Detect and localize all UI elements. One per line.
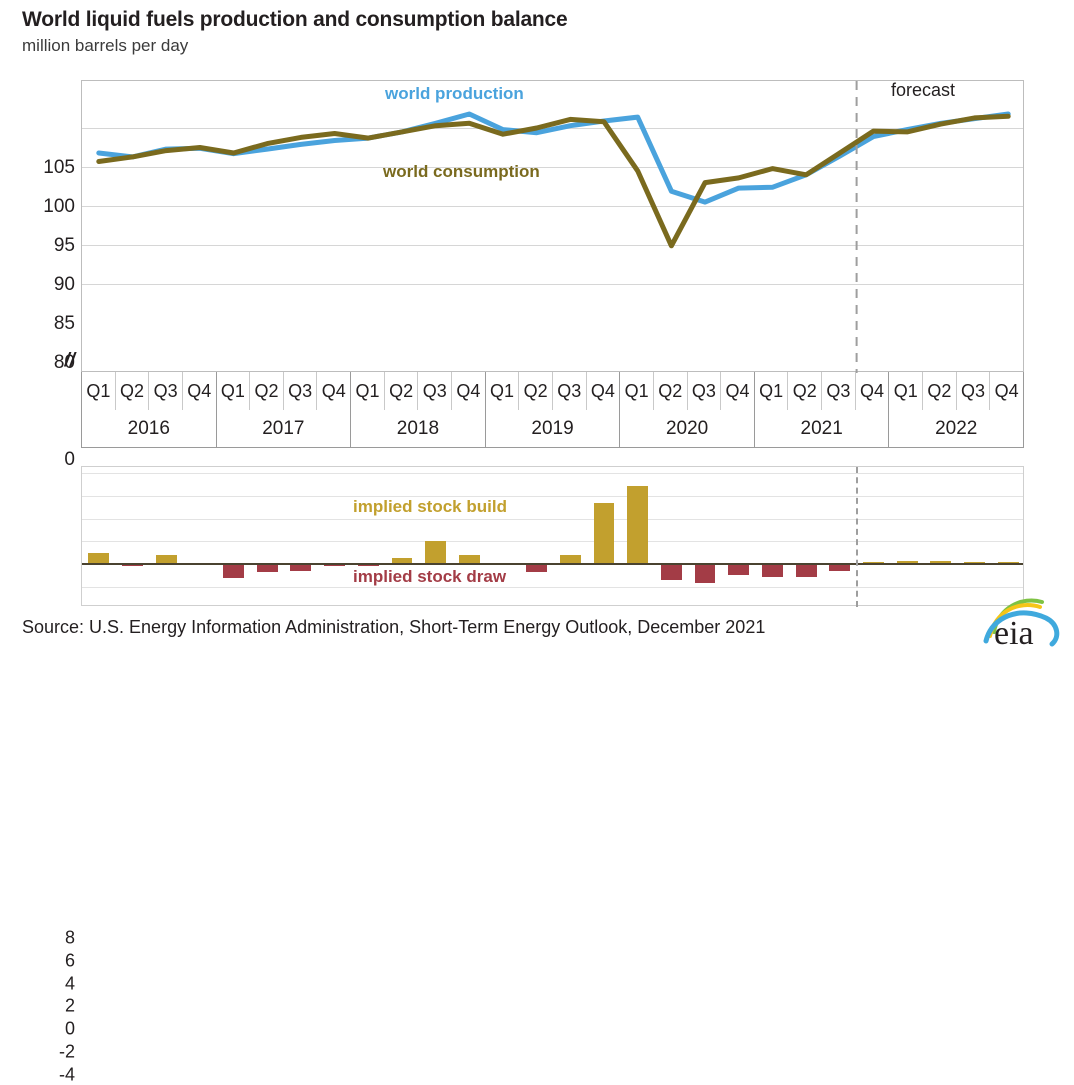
stock-draw-bar bbox=[223, 564, 244, 578]
line-series-production bbox=[99, 114, 1008, 202]
quarter-tick: Q4 bbox=[721, 372, 755, 410]
stock-build-bar bbox=[425, 541, 446, 564]
quarter-tick: Q2 bbox=[923, 372, 957, 410]
y-axis-tick: 105 bbox=[9, 157, 75, 179]
quarter-tick: Q4 bbox=[587, 372, 621, 410]
quarter-row: Q1Q2Q3Q4Q1Q2Q3Q4Q1Q2Q3Q4Q1Q2Q3Q4Q1Q2Q3Q4… bbox=[81, 372, 1024, 410]
zero-axis-line bbox=[82, 563, 1023, 565]
quarter-tick: Q1 bbox=[82, 372, 116, 410]
stock-draw-bar bbox=[695, 564, 716, 583]
source-note: Source: U.S. Energy Information Administ… bbox=[22, 617, 765, 638]
stock-draw-bar bbox=[661, 564, 682, 580]
stock-draw-bar bbox=[526, 564, 547, 572]
eia-logo-text: eia bbox=[994, 615, 1034, 652]
quarter-tick: Q1 bbox=[486, 372, 520, 410]
quarter-tick: Q2 bbox=[385, 372, 419, 410]
bar-plot-area bbox=[81, 466, 1024, 606]
chart-subtitle: million barrels per day bbox=[22, 36, 188, 56]
stock-draw-label: implied stock draw bbox=[353, 567, 506, 587]
consumption-series-label: world consumption bbox=[383, 162, 540, 182]
y-axis-tick-lower: 8 bbox=[9, 928, 75, 949]
y-axis-tick: 95 bbox=[9, 235, 75, 257]
quarter-tick: Q2 bbox=[116, 372, 150, 410]
forecast-label: forecast bbox=[891, 80, 955, 101]
quarter-tick: Q3 bbox=[418, 372, 452, 410]
stock-draw-bar bbox=[829, 564, 850, 571]
stock-draw-bar bbox=[762, 564, 783, 577]
gridline bbox=[82, 473, 1023, 474]
year-tick: 2022 bbox=[889, 410, 1023, 447]
year-tick: 2018 bbox=[351, 410, 486, 447]
y-axis-tick-lower: 0 bbox=[9, 1019, 75, 1040]
production-series-label: world production bbox=[385, 84, 524, 104]
year-tick: 2021 bbox=[755, 410, 890, 447]
upper-y-axis: 10510095908580//0 bbox=[0, 80, 75, 372]
line-series-layer bbox=[82, 81, 1025, 373]
y-axis-tick: 100 bbox=[9, 196, 75, 218]
gridline bbox=[82, 496, 1023, 497]
quarter-tick: Q1 bbox=[351, 372, 385, 410]
y-axis-tick-lower: -2 bbox=[9, 1041, 75, 1062]
stock-build-bar bbox=[594, 503, 615, 564]
quarter-tick: Q3 bbox=[553, 372, 587, 410]
quarter-tick: Q1 bbox=[755, 372, 789, 410]
quarter-tick: Q3 bbox=[149, 372, 183, 410]
x-axis: Q1Q2Q3Q4Q1Q2Q3Q4Q1Q2Q3Q4Q1Q2Q3Q4Q1Q2Q3Q4… bbox=[81, 372, 1024, 448]
year-tick: 2017 bbox=[217, 410, 352, 447]
line-plot-area bbox=[81, 80, 1024, 372]
eia-logo: eia bbox=[964, 592, 1068, 652]
quarter-tick: Q3 bbox=[822, 372, 856, 410]
quarter-tick: Q1 bbox=[620, 372, 654, 410]
y-axis-tick-lower: -4 bbox=[9, 1064, 75, 1085]
axis-break-symbol: // bbox=[9, 350, 75, 372]
quarter-tick: Q3 bbox=[957, 372, 991, 410]
forecast-divider-lower bbox=[856, 467, 858, 607]
quarter-tick: Q2 bbox=[519, 372, 553, 410]
quarter-tick: Q3 bbox=[284, 372, 318, 410]
y-axis-tick: 90 bbox=[9, 274, 75, 296]
quarter-tick: Q1 bbox=[217, 372, 251, 410]
stock-build-bar bbox=[627, 486, 648, 564]
quarter-tick: Q4 bbox=[856, 372, 890, 410]
page-title: World liquid fuels production and consum… bbox=[22, 8, 568, 32]
lower-y-axis: 86420-2-4 bbox=[0, 466, 75, 606]
y-axis-tick-lower: 6 bbox=[9, 950, 75, 971]
gridline bbox=[82, 541, 1023, 542]
year-tick: 2019 bbox=[486, 410, 621, 447]
quarter-tick: Q3 bbox=[688, 372, 722, 410]
bar-chart-panel bbox=[81, 466, 1024, 606]
stock-draw-bar bbox=[290, 564, 311, 571]
line-chart-panel bbox=[81, 80, 1024, 372]
year-row: 2016201720182019202020212022 bbox=[81, 410, 1024, 448]
stock-draw-bar bbox=[257, 564, 278, 572]
quarter-tick: Q4 bbox=[183, 372, 217, 410]
quarter-tick: Q2 bbox=[250, 372, 284, 410]
stock-draw-bar bbox=[796, 564, 817, 577]
eia-chart-figure: World liquid fuels production and consum… bbox=[0, 0, 1074, 654]
quarter-tick: Q4 bbox=[317, 372, 351, 410]
y-axis-tick-lower: 4 bbox=[9, 973, 75, 994]
year-tick: 2016 bbox=[82, 410, 217, 447]
stock-build-label: implied stock build bbox=[353, 497, 507, 517]
stock-draw-bar bbox=[728, 564, 749, 575]
quarter-tick: Q2 bbox=[788, 372, 822, 410]
y-axis-tick: 85 bbox=[9, 313, 75, 335]
quarter-tick: Q4 bbox=[452, 372, 486, 410]
y-axis-tick-lower: 2 bbox=[9, 996, 75, 1017]
quarter-tick: Q2 bbox=[654, 372, 688, 410]
gridline bbox=[82, 519, 1023, 520]
quarter-tick: Q4 bbox=[990, 372, 1023, 410]
quarter-tick: Q1 bbox=[889, 372, 923, 410]
gridline bbox=[82, 587, 1023, 588]
year-tick: 2020 bbox=[620, 410, 755, 447]
